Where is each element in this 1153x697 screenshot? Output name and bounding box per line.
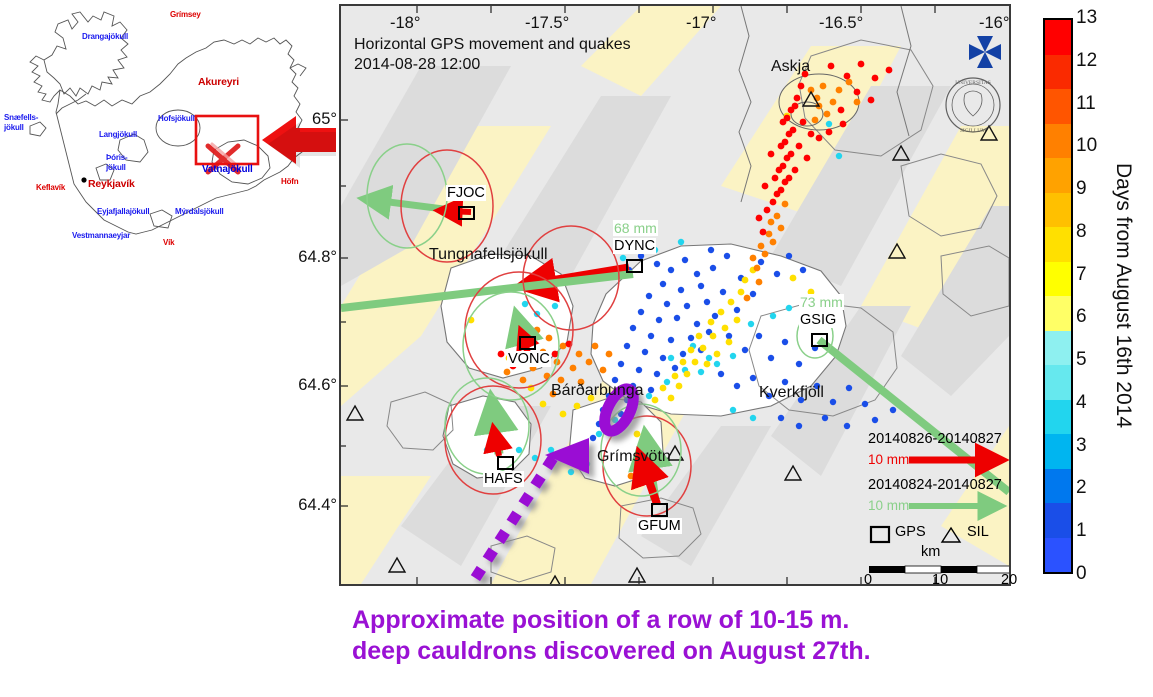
lat-tick-64.8: 64.8° [273,248,337,267]
colorbar-segment [1045,503,1071,538]
map-title-line2: 2014-08-28 12:00 [354,56,480,74]
colorbar [1043,18,1073,574]
lon-tick--17.5: -17.5° [525,14,569,33]
colorbar-tick: 8 [1076,221,1087,243]
place-label-bardarbunga: Bárðarbunga [551,382,644,400]
inset-place-label: Þóris- [106,154,127,162]
lat-tick-65: 65° [291,110,337,129]
lat-tick-64.6: 64.6° [273,376,337,395]
colorbar-tick: 5 [1076,349,1087,371]
iceland-coastline-svg [0,0,336,250]
gps-station-gsig[interactable] [811,333,828,347]
colorbar-tick: 13 [1076,7,1097,29]
scale-tick-20: 20 [1001,572,1017,588]
inset-place-label: Höfn [281,178,298,186]
gps-station-vonc[interactable] [519,336,536,350]
inset-place-label: Langjökull [99,131,137,139]
caption-line2: deep cauldrons discovered on August 27th… [352,636,1052,667]
gps-label-dync: DYNC [613,238,656,254]
inset-place-label: jökull [4,124,24,132]
inset-place-label: Mýrdalsjökull [175,208,224,216]
gps-label-hafs: HAFS [483,471,524,487]
colorbar-segment [1045,400,1071,435]
place-label-askja: Askja [771,58,810,76]
colorbar-tick: 7 [1076,264,1087,286]
colorbar-segment [1045,469,1071,504]
scale-tick-10: 10 [932,572,948,588]
colorbar-tick: 4 [1076,392,1087,414]
scale-bar-unit: km [921,544,940,560]
lon-tick--16: -16° [979,14,1009,33]
gps-label-gfum: GFUM [637,518,682,534]
colorbar-tick: 1 [1076,520,1087,542]
colorbar-segment [1045,434,1071,469]
main-map-panel[interactable]: UNIVERSITAS SIGILLUM [339,4,1011,586]
inset-place-label: Drangajökull [82,33,128,41]
gps-label-vonc: VONC [507,351,551,367]
colorbar-tick: 0 [1076,563,1087,585]
colorbar-tick: 12 [1076,50,1097,72]
gps-station-hafs[interactable] [497,456,514,470]
colorbar-tick: 9 [1076,178,1087,200]
inset-place-label: Eyjafjallajökull [97,208,149,216]
colorbar-segment [1045,158,1071,193]
gps-station-fjoc[interactable] [458,206,475,220]
colorbar-segment [1045,296,1071,331]
lon-tick--18: -18° [390,14,420,33]
colorbar-segment [1045,20,1071,55]
place-label-kverkfjoll: Kverkfjöll [759,384,824,402]
colorbar-segment [1045,89,1071,124]
inset-place-label: Vestmannaeyjar [72,232,130,240]
gps-station-gfum[interactable] [651,503,668,517]
colorbar-segment [1045,538,1071,573]
legend-gps-label: GPS [895,524,926,540]
colorbar-segment [1045,193,1071,228]
inset-place-label: Reykjavík [88,180,135,188]
place-label-grimsvotn: Grímsvötn [597,448,671,466]
gps-displacement-dync: 68 mm [613,220,658,236]
legend-red-scale: 10 mm [868,452,909,467]
colorbar-segment [1045,124,1071,159]
gps-label-gsig: GSIG [799,312,837,328]
lon-tick--17: -17° [686,14,716,33]
colorbar-segment [1045,331,1071,366]
colorbar-title: Days from August 16th 2014 [1108,60,1138,530]
gps-label-fjoc: FJOC [446,185,486,201]
svg-text:UNIVERSITAS: UNIVERSITAS [955,80,991,86]
inset-place-label: Grímsey [170,11,201,19]
gps-displacement-gsig: 73 mm [799,294,844,310]
reykjavik-dot [81,177,86,182]
lat-tick-64.4: 64.4° [273,496,337,515]
legend-green-period: 20140824-20140827 [868,477,1002,493]
inset-label-vatnajokull: Vatnajökull [202,166,253,174]
colorbar-segment [1045,227,1071,262]
lon-tick--16.5: -16.5° [819,14,863,33]
legend-red-period: 20140826-20140827 [868,431,1002,447]
colorbar-tick: 10 [1076,135,1097,157]
inset-place-label: Akureyri [198,78,239,86]
legend-sil-label: SIL [967,524,989,540]
iceland-inset-map: Vatnajökull GrímseyDrangajökullAkureyriH… [0,0,336,250]
gps-station-dync[interactable] [626,259,643,273]
colorbar-segment [1045,262,1071,297]
map-title-line1: Horizontal GPS movement and quakes [354,36,631,54]
inset-place-label: jökull [106,164,126,172]
colorbar-tick: 6 [1076,306,1087,328]
legend-green-scale: 10 mm [868,498,909,513]
inset-place-label: Keflavík [36,184,65,192]
colorbar-tick: 3 [1076,435,1087,457]
inset-place-label: Vík [163,239,174,247]
colorbar-tick: 2 [1076,477,1087,499]
cauldron-caption: Approximate position of a row of 10-15 m… [352,605,1052,667]
colorbar-tick: 11 [1076,93,1096,115]
inset-place-label: Hofsjökull [158,115,195,123]
caption-line1: Approximate position of a row of 10-15 m… [352,605,1052,636]
inset-place-label: Snæfells- [4,114,38,122]
colorbar-segment [1045,365,1071,400]
svg-text:SIGILLUM: SIGILLUM [960,128,986,134]
place-label-tungnafellsjokull: Tungnafellsjökull [429,246,548,264]
colorbar-segment [1045,55,1071,90]
scale-tick-0: 0 [864,572,872,588]
